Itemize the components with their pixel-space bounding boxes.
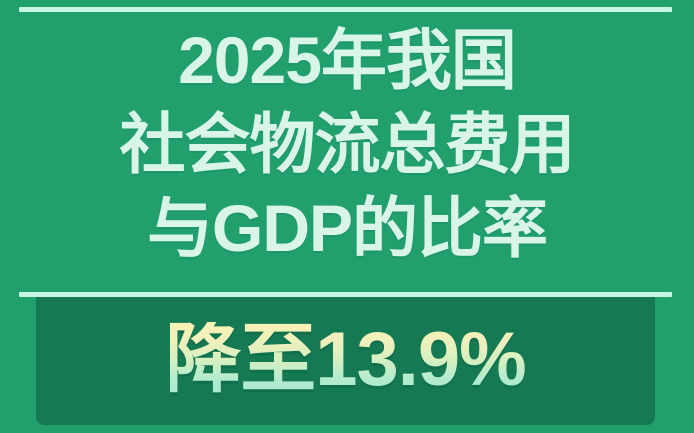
title-line-2: 社会物流总费用 [0, 102, 694, 186]
poster-title-block: 2025年我国 社会物流总费用 与GDP的比率 [0, 18, 694, 270]
headline-container: 降至13.9% [36, 295, 655, 425]
title-line-3: 与GDP的比率 [0, 186, 694, 270]
headline-statistic: 降至13.9% [165, 322, 526, 398]
title-line-1: 2025年我国 [0, 18, 694, 102]
top-divider-rule [19, 7, 672, 12]
infographic-poster: 2025年我国 社会物流总费用 与GDP的比率 降至13.9% [0, 0, 694, 433]
